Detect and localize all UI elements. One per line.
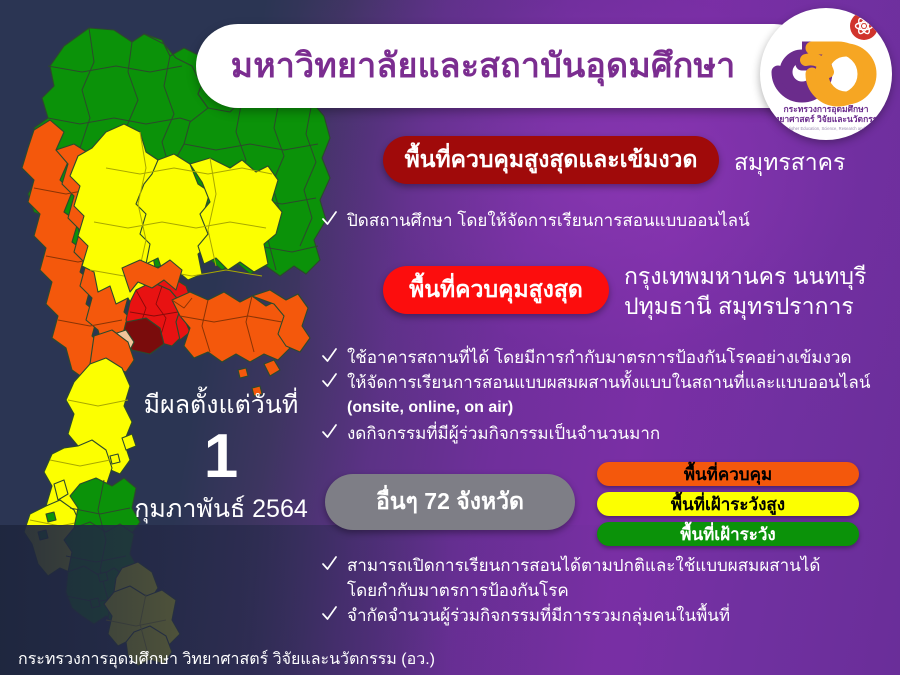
legend-item-high-surveillance-area[interactable]: พื้นที่เฝ้าระวังสูง bbox=[597, 492, 859, 516]
ministry-logo-svg: กระทรวงการอุดมศึกษา วิทยาศาสตร์ วิจัยและ… bbox=[760, 8, 892, 140]
logo-text-line2: วิทยาศาสตร์ วิจัยและนวัตกรรม bbox=[769, 114, 883, 124]
zone-badge-other-provinces[interactable]: อื่นๆ 72 จังหวัด bbox=[325, 474, 575, 530]
zone-provinces-highest-line2: ปทุมธานี สมุทรปราการ bbox=[624, 291, 866, 321]
bullet-continuation: โดยกำกับมาตรการป้องกันโรค bbox=[322, 578, 892, 603]
zone-provinces-highest-strict: สมุทรสาคร bbox=[734, 147, 845, 177]
map-island-east-2 bbox=[238, 368, 248, 378]
zone-bullets-other-provinces: สามารถเปิดการเรียนการสอนได้ตามปกติและใช้… bbox=[322, 553, 892, 628]
bullet-item: ใช้อาคารสถานที่ได้ โดยมีการกำกับมาตรการป… bbox=[322, 345, 892, 370]
map-region-central-orange bbox=[122, 260, 182, 292]
zone-provinces-highest: กรุงเทพมหานคร นนทบุรี ปทุมธานี สมุทรปราก… bbox=[624, 261, 866, 321]
bullet-text: ให้จัดการเรียนการสอนแบบผสมผสานทั้งแบบในส… bbox=[347, 370, 870, 395]
map-island-east-1 bbox=[264, 360, 280, 376]
bullet-text: จำกัดจำนวนผู้ร่วมกิจกรรมที่มีการรวมกลุ่ม… bbox=[347, 603, 730, 628]
infographic-canvas: มหาวิทยาลัยและสถาบันอุดมศึกษา bbox=[0, 0, 900, 675]
ministry-logo: กระทรวงการอุดมศึกษา วิทยาศาสตร์ วิจัยและ… bbox=[760, 8, 892, 140]
map-island-gulf-4 bbox=[90, 598, 100, 608]
bullet-subnote: (onsite, online, on air) bbox=[322, 395, 892, 421]
zone-bullets-highest: ใช้อาคารสถานที่ได้ โดยมีการกำกับมาตรการป… bbox=[322, 345, 892, 446]
effective-date-day: 1 bbox=[106, 422, 336, 492]
bullet-item: ให้จัดการเรียนการสอนแบบผสมผสานทั้งแบบในส… bbox=[322, 370, 892, 395]
check-icon bbox=[322, 347, 337, 365]
page-title: มหาวิทยาลัยและสถาบันอุดมศึกษา bbox=[231, 49, 736, 83]
zone-provinces-highest-line1: กรุงเทพมหานคร นนทบุรี bbox=[624, 261, 866, 291]
logo-60-mark bbox=[778, 48, 870, 100]
map-legend: พื้นที่ควบคุม พื้นที่เฝ้าระวังสูง พื้นที… bbox=[597, 462, 859, 552]
check-icon bbox=[322, 605, 337, 623]
check-icon bbox=[322, 210, 337, 228]
check-icon bbox=[322, 555, 337, 573]
bullet-item: สามารถเปิดการเรียนการสอนได้ตามปกติและใช้… bbox=[322, 553, 892, 578]
bullet-text: ปิดสถานศึกษา โดยให้จัดการเรียนการสอนแบบอ… bbox=[347, 208, 750, 233]
footer-ministry-name: กระทรวงการอุดมศึกษา วิทยาศาสตร์ วิจัยและ… bbox=[18, 647, 435, 672]
zone-badge-highest-strict[interactable]: พื้นที่ควบคุมสูงสุดและเข้มงวด bbox=[383, 136, 719, 184]
map-island-gulf-3 bbox=[98, 572, 108, 582]
zone-badge-highest[interactable]: พื้นที่ควบคุมสูงสุด bbox=[383, 266, 609, 314]
bullet-text: งดกิจกรรมที่มีผู้ร่วมกิจกรรมเป็นจำนวนมาก bbox=[347, 421, 660, 446]
page-title-pill: มหาวิทยาลัยและสถาบันอุดมศึกษา bbox=[196, 24, 816, 108]
zone-bullets-highest-strict: ปิดสถานศึกษา โดยให้จัดการเรียนการสอนแบบอ… bbox=[322, 208, 882, 233]
legend-item-surveillance-area[interactable]: พื้นที่เฝ้าระวัง bbox=[597, 522, 859, 546]
map-island-andaman-1 bbox=[46, 512, 56, 522]
effective-date-prefix: มีผลตั้งแต่วันที่ bbox=[106, 388, 336, 422]
bullet-text: สามารถเปิดการเรียนการสอนได้ตามปกติและใช้… bbox=[347, 553, 820, 578]
effective-date-block: มีผลตั้งแต่วันที่ 1 กุมภาพันธ์ 2564 bbox=[106, 388, 336, 526]
logo-text-line3: Ministry of Higher Education, Science, R… bbox=[767, 126, 886, 131]
bullet-item: ปิดสถานศึกษา โดยให้จัดการเรียนการสอนแบบอ… bbox=[322, 208, 882, 233]
atom-icon bbox=[850, 12, 878, 40]
bullet-item: จำกัดจำนวนผู้ร่วมกิจกรรมที่มีการรวมกลุ่ม… bbox=[322, 603, 892, 628]
bullet-text: ใช้อาคารสถานที่ได้ โดยมีการกำกับมาตรการป… bbox=[347, 345, 852, 370]
bullet-item: งดกิจกรรมที่มีผู้ร่วมกิจกรรมเป็นจำนวนมาก bbox=[322, 421, 892, 446]
effective-date-month-year: กุมภาพันธ์ 2564 bbox=[106, 492, 336, 526]
map-island-andaman-2 bbox=[38, 530, 48, 540]
legend-item-control-area[interactable]: พื้นที่ควบคุม bbox=[597, 462, 859, 486]
